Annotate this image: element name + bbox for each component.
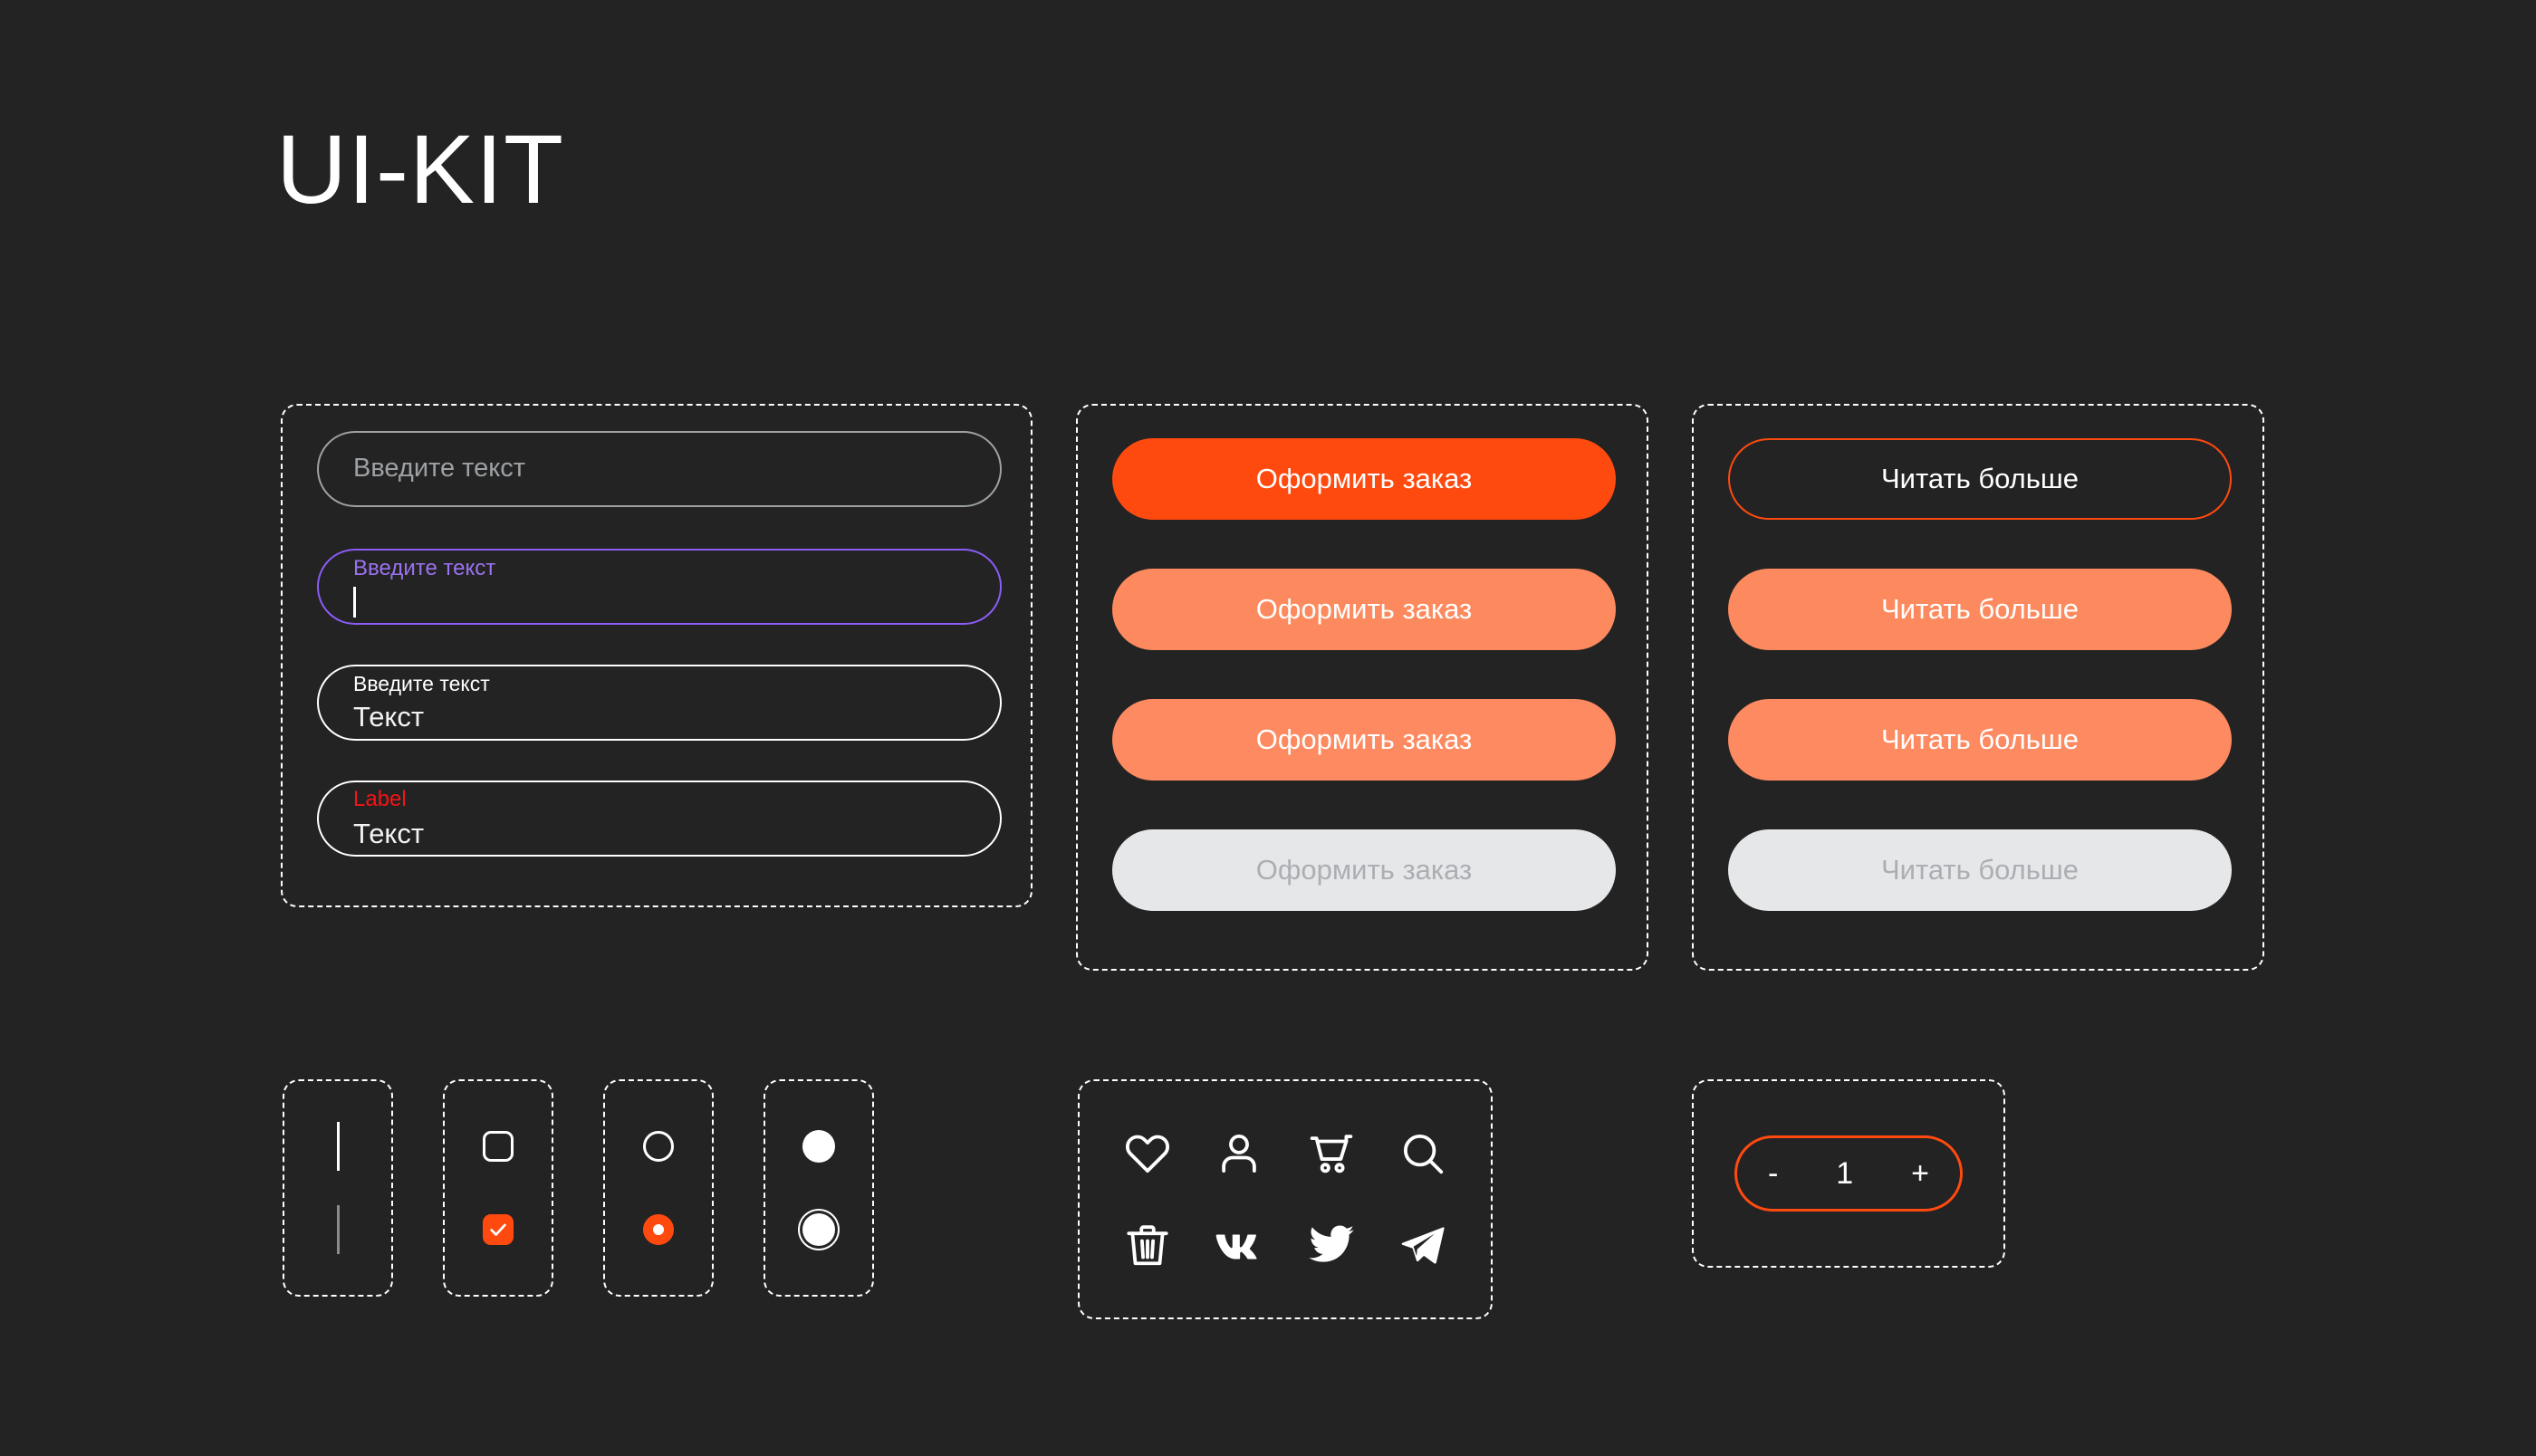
icon-grid	[1080, 1081, 1491, 1317]
primary-button-hover[interactable]: Оформить заказ	[1112, 569, 1616, 650]
primary-buttons-panel: Оформить заказ Оформить заказ Оформить з…	[1076, 404, 1648, 971]
secondary-button-disabled: Читать больше	[1728, 829, 2232, 911]
dot-solid-icon[interactable]	[802, 1130, 835, 1163]
secondary-button-default[interactable]: Читать больше	[1728, 438, 2232, 520]
primary-button-disabled: Оформить заказ	[1112, 829, 1616, 911]
quantity-stepper: - 1 +	[1734, 1135, 1963, 1212]
inputs-panel: Введите текст Введите текст Введите текс…	[281, 404, 1033, 907]
input-label-filled: Введите текст	[353, 672, 965, 695]
input-field-error[interactable]: Label Текст	[317, 781, 1002, 857]
radio-checked[interactable]	[643, 1214, 674, 1245]
checkbox-checked[interactable]	[483, 1214, 514, 1245]
twitter-icon[interactable]	[1302, 1215, 1361, 1275]
page-title: UI-KIT	[276, 120, 564, 218]
primary-button-active[interactable]: Оформить заказ	[1112, 699, 1616, 781]
dot-panel	[764, 1079, 874, 1297]
input-label-focused: Введите текст	[353, 556, 965, 581]
checkbox-unchecked[interactable]	[483, 1131, 514, 1162]
quantity-stepper-panel: - 1 +	[1692, 1079, 2005, 1268]
input-field-focused[interactable]: Введите текст	[317, 549, 1002, 625]
trash-icon[interactable]	[1118, 1215, 1177, 1275]
user-icon[interactable]	[1209, 1124, 1269, 1183]
quantity-value: 1	[1836, 1158, 1853, 1189]
quantity-decrement-button[interactable]: -	[1768, 1158, 1778, 1189]
checkbox-panel	[443, 1079, 553, 1297]
quantity-increment-button[interactable]: +	[1911, 1158, 1929, 1189]
text-caret-icon	[353, 587, 356, 618]
dot-focus-ring-icon[interactable]	[802, 1213, 835, 1246]
secondary-button-hover[interactable]: Читать больше	[1728, 569, 2232, 650]
primary-button-default[interactable]: Оформить заказ	[1112, 438, 1616, 520]
input-field-default[interactable]: Введите текст	[317, 431, 1002, 507]
check-icon	[488, 1220, 508, 1240]
radio-panel	[603, 1079, 714, 1297]
text-cursor-active-icon	[337, 1122, 340, 1171]
telegram-icon[interactable]	[1393, 1215, 1453, 1275]
heart-icon[interactable]	[1118, 1124, 1177, 1183]
secondary-buttons-panel: Читать больше Читать больше Читать больш…	[1692, 404, 2264, 971]
search-icon[interactable]	[1393, 1124, 1453, 1183]
input-field-filled[interactable]: Введите текст Текст	[317, 665, 1002, 741]
ui-kit-canvas: UI-KIT Введите текст Введите текст Введи…	[0, 0, 2536, 1456]
vk-icon[interactable]	[1209, 1215, 1269, 1275]
input-label-error: Label	[353, 787, 965, 812]
icons-panel	[1078, 1079, 1493, 1319]
radio-unchecked[interactable]	[643, 1131, 674, 1162]
input-value-error: Текст	[353, 817, 965, 850]
input-placeholder-default: Введите текст	[353, 455, 965, 484]
secondary-button-active[interactable]: Читать больше	[1728, 699, 2232, 781]
text-cursor-panel	[283, 1079, 393, 1297]
cart-icon[interactable]	[1302, 1124, 1361, 1183]
input-value-filled: Текст	[353, 700, 965, 733]
text-cursor-inactive-icon	[337, 1205, 340, 1254]
